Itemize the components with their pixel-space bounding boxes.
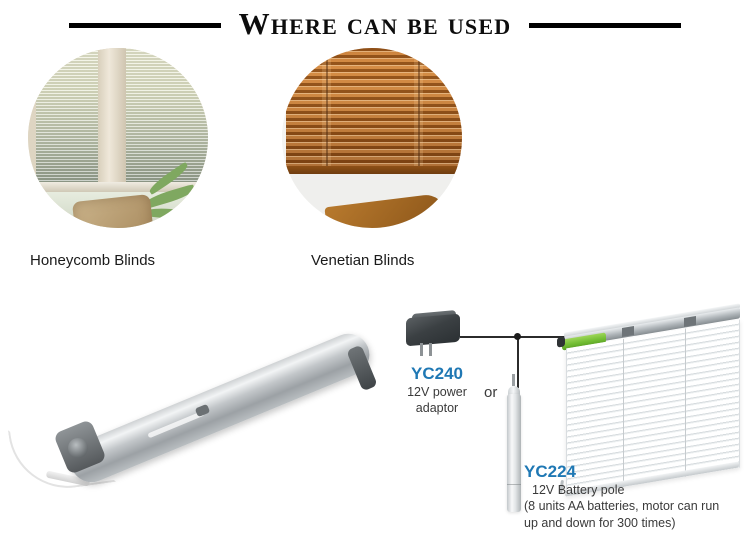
wooden-slats: [286, 48, 462, 172]
battery-pole-desc-line2: (8 units AA batteries, motor can run: [524, 498, 748, 515]
adaptor-prong: [420, 343, 423, 356]
leaf: [144, 206, 203, 222]
battery-pole-tip: [512, 374, 515, 386]
adaptor-desc-line2: adaptor: [392, 400, 482, 417]
honeycomb-caption: Honeycomb Blinds: [30, 252, 155, 269]
adaptor-prong: [429, 343, 432, 356]
wooden-blind: [286, 48, 462, 172]
or-label: or: [484, 384, 497, 401]
battery-pole-image: [506, 384, 522, 514]
honeycomb-pleat-lines: [36, 48, 100, 182]
motor-drive-shaft: [68, 438, 88, 458]
honeycomb-blinds-image: [28, 48, 208, 228]
battery-pole-label-group: YC224 12V Battery pole (8 units AA batte…: [524, 462, 748, 531]
adaptor-desc-line1: 12V power: [392, 384, 482, 401]
battery-pole-code: YC224: [524, 462, 748, 482]
page-title: Where can be used: [239, 8, 512, 42]
lift-cord: [326, 48, 328, 172]
header-rule-left: [69, 23, 221, 28]
wire-junction-node: [514, 333, 521, 340]
page-header: Where can be used: [0, 0, 750, 50]
wire-adaptor-to-junction: [460, 336, 518, 338]
page-root: Where can be used: [0, 0, 750, 552]
battery-pole-desc-line1: 12V Battery pole: [524, 482, 748, 499]
venetian-blinds-image: [282, 48, 462, 228]
battery-pole-seam: [507, 484, 521, 485]
venetian-caption: Venetian Blinds: [311, 252, 414, 269]
header-rule-right: [529, 23, 681, 28]
adaptor-code: YC240: [392, 364, 482, 384]
tubular-motor-image: [18, 305, 368, 475]
window-mullion: [98, 48, 126, 192]
system-diagram: or YV16CE、YV24CE: [0, 280, 750, 552]
adaptor-body: [406, 314, 460, 347]
motor-tube-body: [64, 327, 376, 488]
power-adaptor-image: [406, 312, 466, 356]
adaptor-label-group: YC240 12V power adaptor: [392, 364, 482, 417]
lift-cord: [418, 48, 420, 172]
honeycomb-panel-left: [36, 48, 100, 182]
blind-lift-cord: [685, 328, 686, 476]
battery-pole-body: [507, 394, 521, 512]
bottom-rail: [286, 166, 462, 174]
battery-pole-desc-line3: up and down for 300 times): [524, 515, 748, 532]
wire-junction-to-battery: [517, 336, 519, 388]
